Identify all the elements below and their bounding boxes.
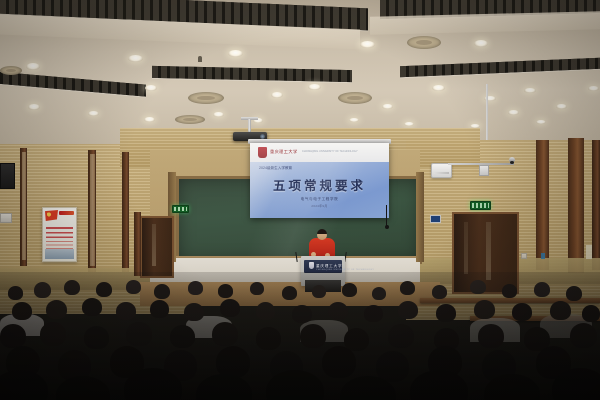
downlight [524,88,536,93]
slide-date: 2024年9月 [250,204,389,208]
wall-poster [42,207,77,262]
poster-text-rows [46,224,73,238]
poster-flag-icon [45,210,58,221]
exit-sign-right [470,201,491,210]
poster-title-band [59,211,74,215]
wall-trim [592,140,600,270]
right-wall-plate [521,253,527,259]
exit-sign-left-glyph [174,207,187,211]
audience-area [0,272,600,400]
downlight [556,104,567,109]
exit-sign-right-glyph [472,203,489,208]
downlight [308,84,321,90]
university-crest-icon [258,147,267,158]
wall-speaker [0,163,15,189]
downlight [474,40,488,47]
downlight [145,85,157,91]
downlight [360,41,375,48]
wall-trim-inlay [22,152,26,260]
wall-trim [122,152,129,272]
slide-headline: 五项常规要求 [250,175,389,194]
downlight [588,86,599,91]
downlight [128,55,143,62]
downlight [26,63,40,70]
ceiling-sensor [198,56,202,62]
air-vent [175,115,205,124]
right-wall-notice [586,245,592,259]
right-pillar-label [541,253,545,259]
downlight [508,110,519,115]
ceiling-stem [486,84,488,142]
downlight [144,117,155,122]
downlight [349,118,359,122]
poster-text-rows-secondary [46,240,73,249]
downlight [28,104,40,110]
wall-pillar [568,138,584,273]
podium-crest-icon [309,262,314,269]
wall-trim-inlay [90,154,95,266]
security-camera [509,157,515,162]
board-right-edge [416,172,424,262]
slide-department: 电气与电子工程学院 [250,197,389,202]
wall-mounted-bracket [479,165,489,176]
presenter-hair [317,229,327,234]
ac-vent-line [434,172,449,174]
screen-pull-rod[interactable] [386,205,387,227]
downlight [382,104,393,109]
poster-photo [45,249,74,259]
podium-university-name-sub: CHONGQING UNIVERSITY OF TECHNOLOGY [316,269,374,271]
downlight [404,122,414,126]
downlight [88,111,99,116]
downlight [536,120,546,124]
air-vent [188,92,224,104]
door-access-panel[interactable] [430,215,441,223]
wall-pillar [536,140,549,270]
downlight [432,85,445,91]
slide-university-name: 重庆理工大学 [270,149,298,155]
downlight [213,112,224,117]
downlight [271,92,283,98]
slide-kicker: 2024级新生入学教育 [259,166,292,171]
projection-screen[interactable]: 重庆理工大学 CHONGQING UNIVERSITY OF TECHNOLOG… [250,143,389,218]
door-right-glass-secondary [464,222,468,274]
air-vent [0,66,22,75]
exit-sign-left [172,205,189,213]
slide-body: 2024级新生入学教育 五项常规要求 电气与电子工程学院 2024年9月 [250,162,389,218]
downlight [228,50,243,57]
air-vent [407,36,441,49]
door-left[interactable] [140,216,174,278]
air-conditioner-unit [431,163,452,178]
audience-shading [0,272,600,400]
wall-control-panel[interactable] [0,213,12,223]
door-left-jamb [134,212,141,276]
lecture-hall-photo: 重庆理工大学 CHONGQING UNIVERSITY OF TECHNOLOG… [0,0,600,400]
door-left-glass [152,224,156,266]
slide-header: 重庆理工大学 CHONGQING UNIVERSITY OF TECHNOLOG… [250,143,389,162]
slide-university-name-sub: CHONGQING UNIVERSITY OF TECHNOLOGY [302,150,358,153]
air-vent [338,92,372,104]
